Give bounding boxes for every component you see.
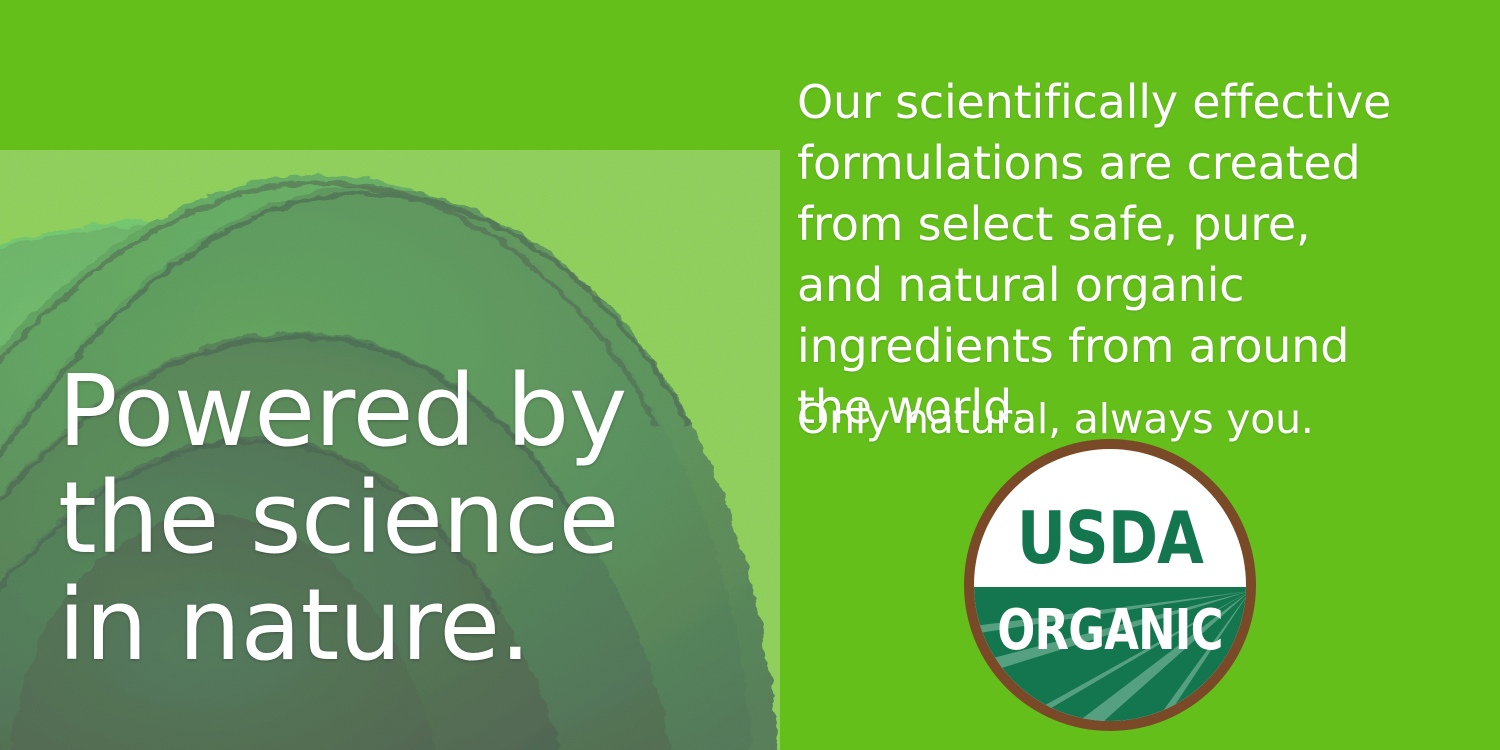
- organic-brand-banner: Powered by the science in nature. Our sc…: [0, 0, 1500, 750]
- usda-organic-seal: USDA ORGANIC: [958, 433, 1262, 737]
- seal-usda-label: USDA: [1017, 496, 1205, 580]
- page-title: Powered by the science in nature.: [58, 358, 738, 679]
- body-paragraph: Our scientifically effective formulation…: [797, 72, 1402, 438]
- seal-organic-label: ORGANIC: [997, 597, 1222, 662]
- usda-organic-seal-svg: USDA ORGANIC: [958, 433, 1262, 737]
